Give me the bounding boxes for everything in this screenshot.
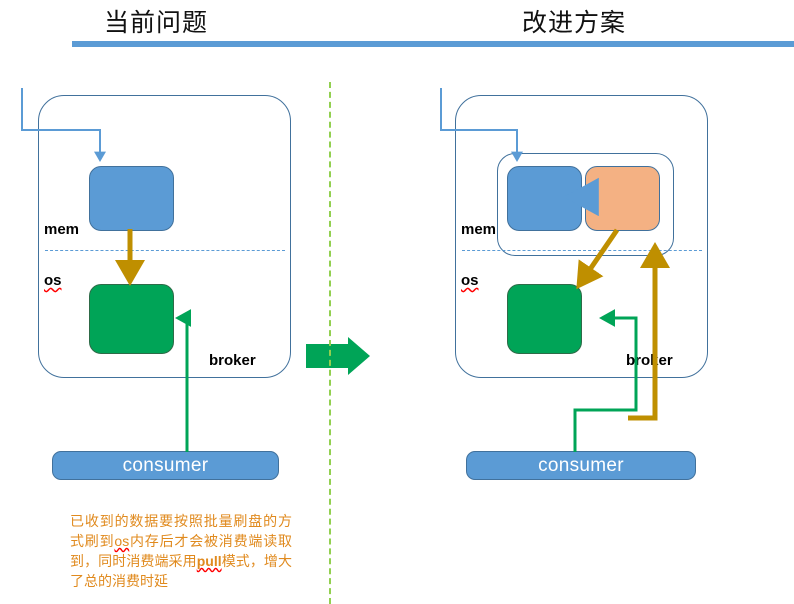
producer-inbound-wire-left (22, 88, 100, 158)
producer-inbound-wire-right (441, 88, 517, 158)
vertical-dash-dot-divider-icon (329, 82, 331, 604)
connector-layer (0, 0, 794, 604)
flush-arrow-right (582, 230, 617, 281)
right-arrow-icon (306, 337, 370, 375)
consumer-pull-wire-left (181, 318, 187, 452)
slide-canvas: 当前问题 改进方案 mem os broker consumer 已收到的数据要… (0, 0, 794, 604)
cache-push-wire-right (628, 252, 655, 418)
consumer-pull-wire-right (575, 318, 636, 452)
